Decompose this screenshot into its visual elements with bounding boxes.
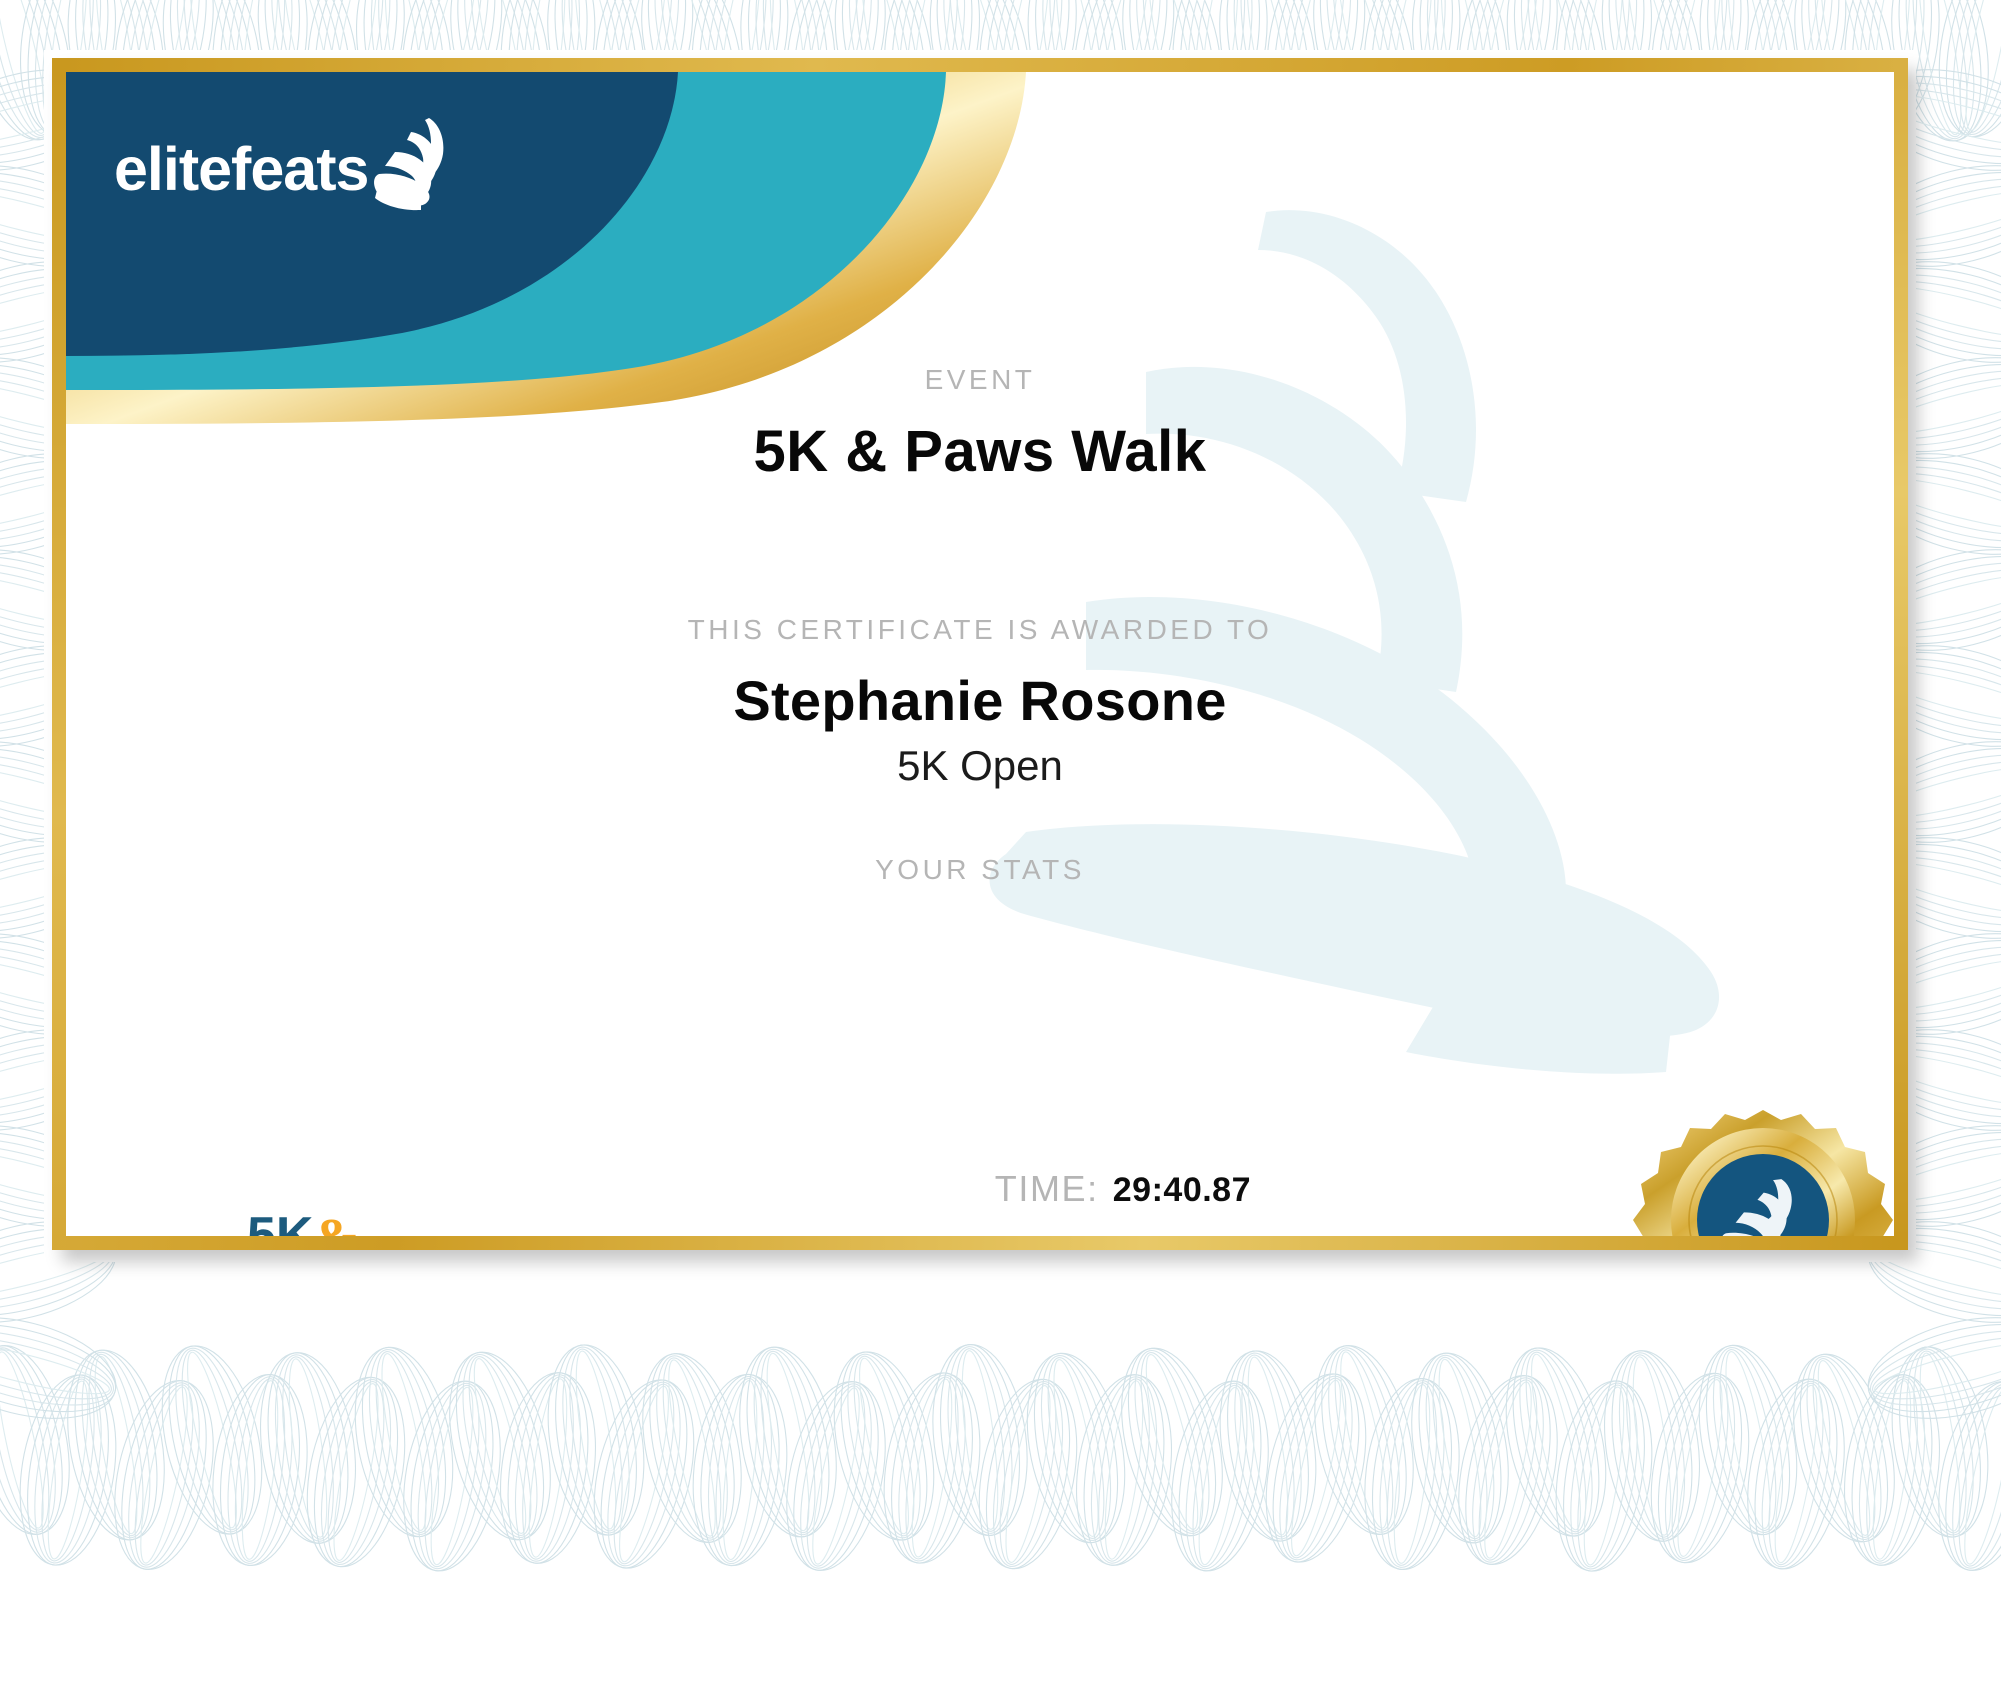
stats-heading: YOUR STATS [66, 854, 1894, 886]
awarded-eyebrow: THIS CERTIFICATE IS AWARDED TO [66, 614, 1894, 646]
medal-disc [1633, 1110, 1893, 1236]
stat-label: TIME: [995, 1168, 1099, 1210]
stats-list: TIME: 29:40.87 AGE GROUP PLACE: 2 of 25 … [446, 1168, 1251, 1236]
certificate-body: elitefeats EVENT 5K & Paws Walk THIS CER… [66, 72, 1894, 1236]
logo-ampersand-text: & [313, 1208, 360, 1236]
recipient-category: 5K Open [66, 742, 1894, 790]
event-title: 5K & Paws Walk [66, 418, 1894, 485]
brand-wordmark: elitefeats [114, 134, 368, 204]
certificate-frame: elitefeats EVENT 5K & Paws Walk THIS CER… [52, 58, 1908, 1250]
event-eyebrow: EVENT [66, 364, 1894, 396]
recipient-name: Stephanie Rosone [66, 668, 1894, 733]
winged-foot-icon [371, 116, 459, 212]
stat-row-time: TIME: 29:40.87 [446, 1168, 1251, 1210]
logo-5k-text: 5K [247, 1207, 314, 1236]
stat-value: 29:40.87 [1113, 1171, 1251, 1210]
finisher-medal: 2025 [1568, 1092, 1894, 1236]
event-logo: 5K & P ws Walk to support Long Island Ca… [221, 1207, 551, 1236]
certificate-page: elitefeats EVENT 5K & Paws Walk THIS CER… [0, 0, 2001, 1700]
